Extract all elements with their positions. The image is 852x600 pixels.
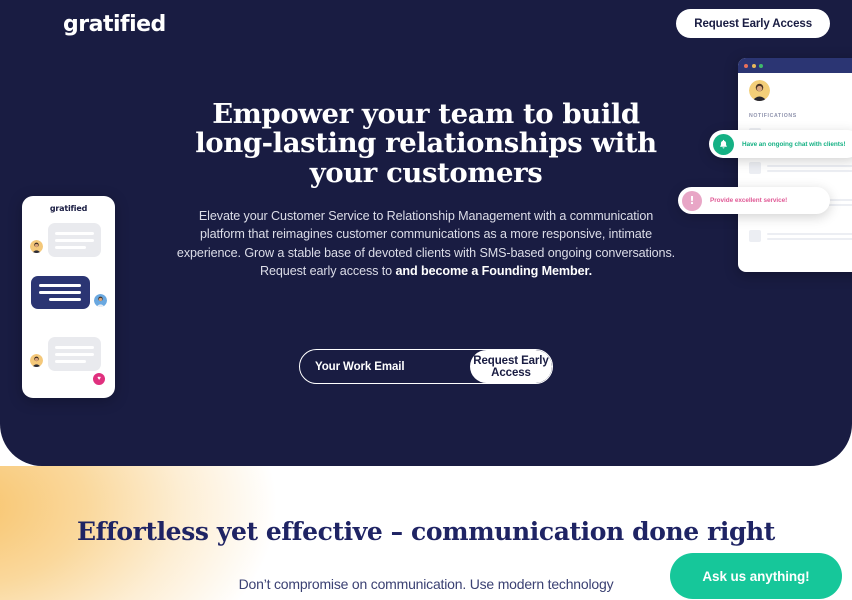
placeholder-thumbnail [749, 230, 761, 242]
avatar-face-icon [749, 80, 770, 101]
window-minimize-dot [752, 64, 756, 68]
brand-logo[interactable]: gratified [63, 12, 166, 37]
phone-mockup-logo: gratified [22, 204, 115, 213]
window-close-dot [744, 64, 748, 68]
hero-description: Elevate your Customer Service to Relatio… [176, 207, 676, 280]
exclamation-icon: ! [682, 191, 702, 211]
placeholder-thumbnail [749, 162, 761, 174]
bell-icon [713, 134, 734, 155]
window-maximize-dot [759, 64, 763, 68]
avatar [29, 353, 44, 368]
notification-toast-ongoing-chat[interactable]: Have an ongoing chat with clients! [709, 130, 852, 158]
hero-section: gratified Request Early Access Empower y… [0, 0, 852, 466]
bell-glyph [718, 139, 729, 150]
notification-text: Have an ongoing chat with clients! [742, 141, 845, 148]
email-signup-form: Request Early Access [299, 349, 553, 384]
work-email-input[interactable] [300, 361, 470, 373]
avatar-face-icon [30, 354, 43, 367]
heart-icon: ♥ [97, 376, 101, 382]
chat-widget-button[interactable]: Ask us anything! [670, 553, 842, 599]
hero-content: Empower your team to build long-lasting … [176, 100, 676, 280]
notification-toast-excellent-service[interactable]: ! Provide excellent service! [678, 187, 830, 214]
top-navigation-bar: gratified Request Early Access [0, 0, 852, 52]
desktop-notifications-mockup: NOTIFICATIONS [738, 58, 852, 272]
list-item [749, 230, 852, 242]
phone-chat-mockup: gratified [22, 196, 115, 398]
chat-bubble-incoming [48, 337, 101, 371]
list-item [749, 162, 852, 174]
hero-headline: Empower your team to build long-lasting … [176, 100, 676, 188]
avatar [29, 239, 44, 254]
hero-request-early-access-button[interactable]: Request Early Access [470, 350, 552, 383]
nav-request-early-access-button[interactable]: Request Early Access [676, 9, 830, 38]
section-title: Effortless yet effective – communication… [0, 517, 852, 546]
chat-bubble-incoming [48, 223, 101, 257]
heart-reaction-badge[interactable]: ♥ [93, 373, 105, 385]
avatar [93, 293, 108, 308]
mockup-window-titlebar [738, 58, 852, 73]
avatar [749, 80, 770, 101]
notification-text: Provide excellent service! [710, 197, 787, 204]
chat-bubble-outgoing [31, 276, 90, 309]
avatar-face-icon [94, 294, 107, 307]
notifications-section-label: NOTIFICATIONS [749, 113, 797, 119]
hero-description-emphasis: and become a Founding Member. [395, 264, 592, 278]
avatar-face-icon [30, 240, 43, 253]
